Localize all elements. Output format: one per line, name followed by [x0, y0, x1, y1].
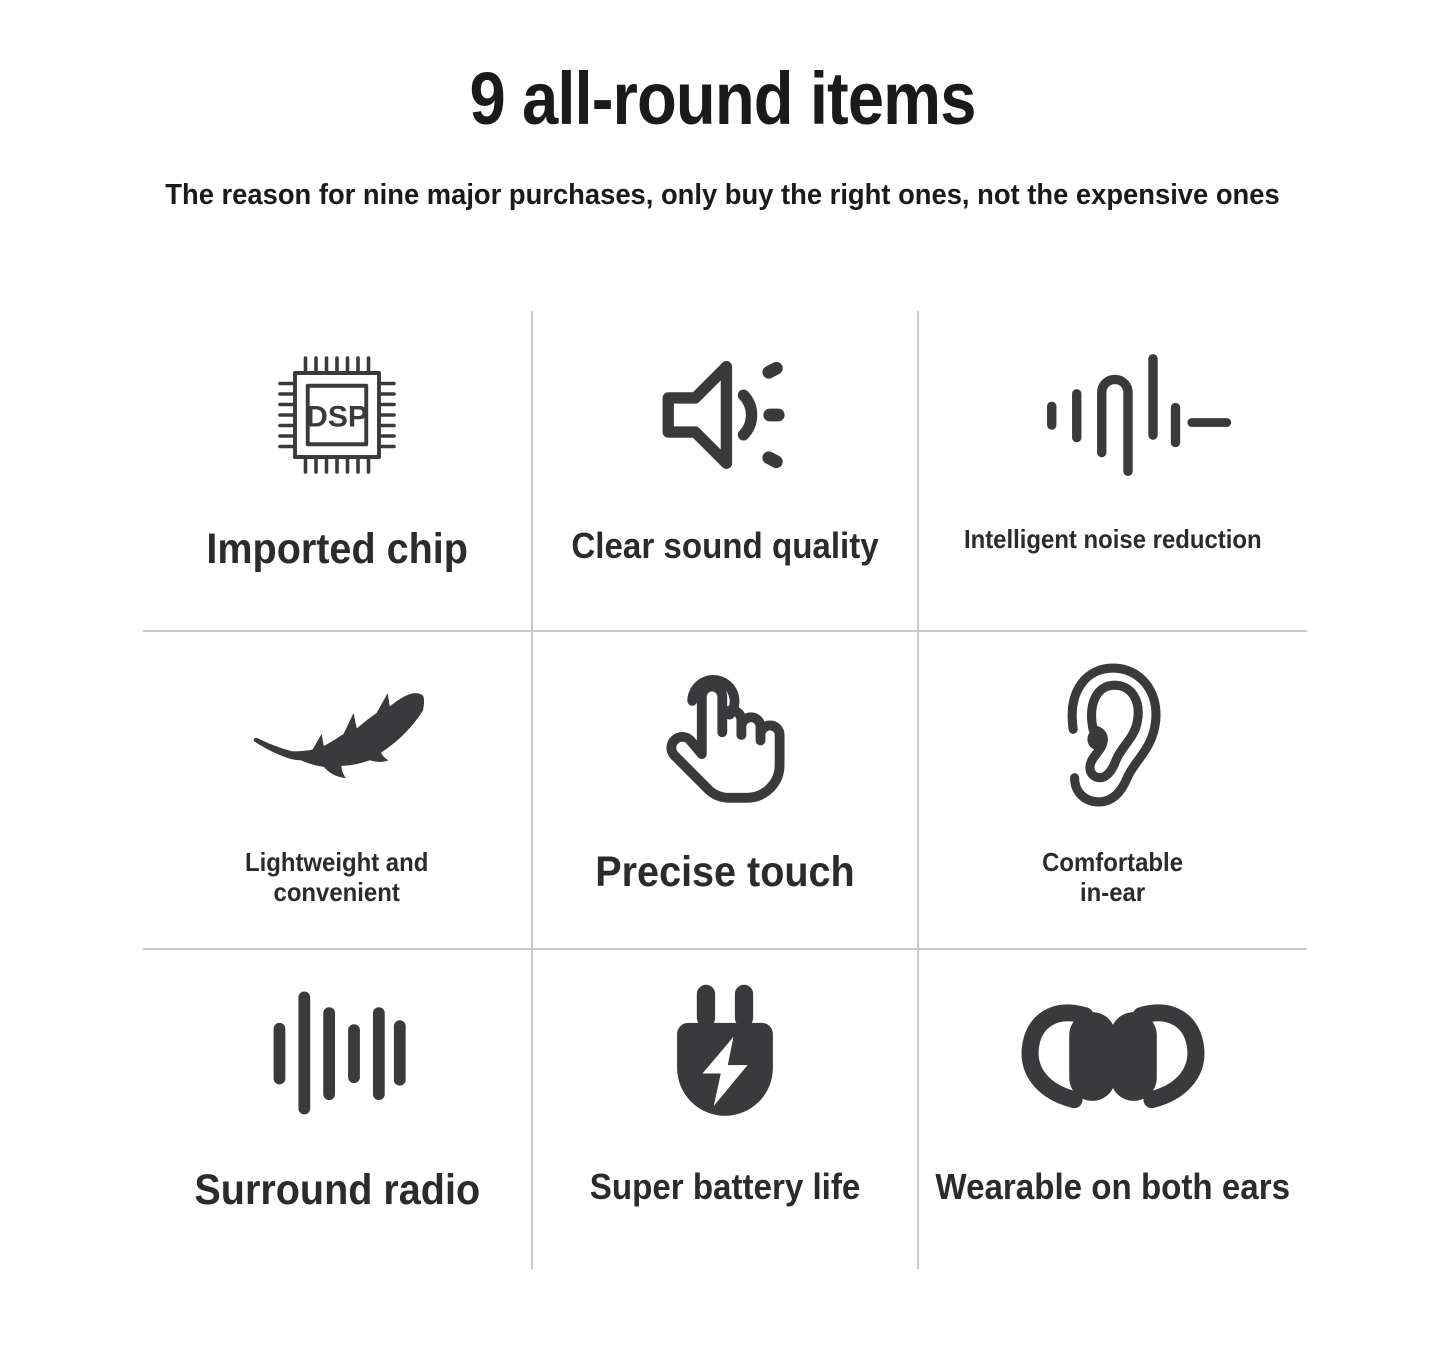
- feature-label: Wearable on both ears: [936, 1166, 1291, 1207]
- feature-label: Clear sound quality: [571, 525, 878, 566]
- feature-cell-noise-reduction: Intelligent noise reduction: [919, 311, 1307, 630]
- feature-label: Surround radio: [194, 1166, 480, 1215]
- feature-cell-comfortable-in-ear: Comfortable in-ear: [919, 630, 1307, 949]
- feather-icon: [143, 632, 531, 838]
- header: 9 all-round items The reason for nine ma…: [0, 0, 1445, 211]
- touch-hand-icon: [533, 632, 917, 838]
- feature-cell-wearable-both-ears: Wearable on both ears: [919, 950, 1307, 1269]
- feature-label: Intelligent noise reduction: [964, 525, 1262, 555]
- features-grid: DSP Imported chip Clear sound quality: [143, 311, 1307, 1269]
- feature-cell-imported-chip: DSP Imported chip: [143, 311, 531, 630]
- page-subtitle: The reason for nine major purchases, onl…: [29, 180, 1416, 211]
- feature-cell-lightweight: Lightweight and convenient: [143, 630, 531, 949]
- feature-label: Comfortable in-ear: [1043, 848, 1184, 907]
- feature-label: Lightweight and convenient: [245, 848, 428, 907]
- feature-label: Imported chip: [206, 525, 468, 574]
- feature-label: Super battery life: [590, 1166, 861, 1207]
- speaker-sound-icon: [533, 311, 917, 519]
- page-title: 9 all-round items: [87, 62, 1359, 136]
- feature-cell-battery-life: Super battery life: [531, 950, 919, 1269]
- dual-earhook-icon: [919, 950, 1307, 1152]
- feature-label: Precise touch: [595, 848, 854, 897]
- dsp-chip-label: DSP: [306, 400, 368, 433]
- feature-cell-surround-radio: Surround radio: [143, 950, 531, 1269]
- equalizer-bars-icon: [143, 950, 531, 1152]
- power-plug-bolt-icon: [533, 950, 917, 1152]
- dsp-chip-icon: DSP: [143, 311, 531, 519]
- feature-cell-precise-touch: Precise touch: [531, 630, 919, 949]
- ear-icon: [919, 632, 1307, 838]
- feature-grid-page: 9 all-round items The reason for nine ma…: [0, 0, 1445, 1370]
- feature-cell-clear-sound: Clear sound quality: [531, 311, 919, 630]
- noise-reduction-wave-icon: [919, 311, 1307, 519]
